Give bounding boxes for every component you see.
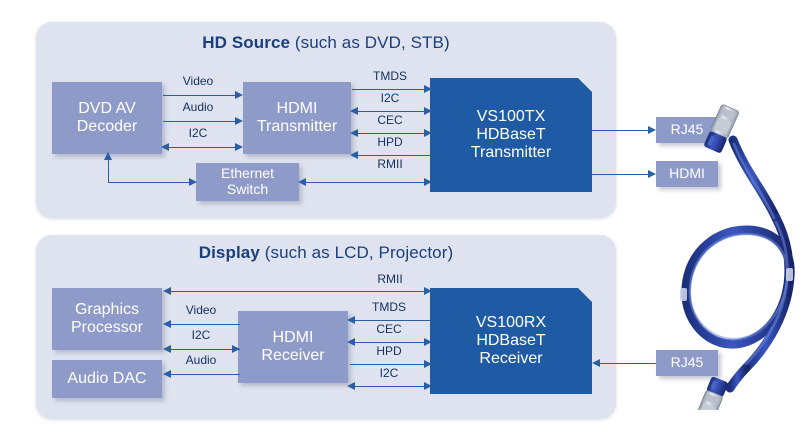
diagram-canvas: HD Source (such as DVD, STB) DVD AV Deco… bbox=[0, 0, 808, 447]
signal-arrow-i2c-rx2-right bbox=[424, 382, 432, 390]
signal-line-video-rx bbox=[166, 324, 240, 325]
signal-label-rmii-tx: RMII bbox=[355, 157, 425, 171]
eth-to-decoder-arrow-right bbox=[189, 178, 197, 186]
signal-label-hpd-rx: HPD bbox=[352, 344, 426, 358]
signal-line-audio-tx bbox=[163, 121, 237, 122]
signal-label-audio-rx: Audio bbox=[168, 353, 234, 367]
signal-line-rmii-tx bbox=[300, 182, 432, 183]
signal-label-tmds-tx: TMDS bbox=[355, 69, 425, 83]
box-graphics-processor[interactable]: Graphics Processor bbox=[52, 288, 162, 350]
signal-label-rmii-rx: RMII bbox=[355, 272, 425, 286]
signal-arrow-audio-tx-right bbox=[235, 117, 243, 125]
eth-to-decoder-vline bbox=[108, 160, 109, 183]
signal-line-tmds-rx bbox=[350, 320, 430, 321]
signal-arrow-i2c-rx2-left bbox=[347, 382, 355, 390]
signal-label-audio-tx: Audio bbox=[165, 100, 231, 114]
signal-label-cec-rx: CEC bbox=[352, 322, 426, 336]
panel-hd-source-title-strong: HD Source bbox=[202, 33, 290, 52]
signal-arrow-cec-tx-right bbox=[424, 129, 432, 137]
signal-line-video-tx bbox=[163, 95, 237, 96]
panel-display-title-light: (such as LCD, Projector) bbox=[265, 243, 454, 262]
signal-line-cec-rx bbox=[350, 342, 430, 343]
rx-in-rj45-arrow bbox=[592, 359, 600, 367]
panel-display-title-strong: Display bbox=[199, 243, 260, 262]
tx-out-hdmi-arrow bbox=[648, 170, 656, 178]
signal-line-i2c-rx2 bbox=[350, 386, 430, 387]
signal-arrow-video-tx-right bbox=[235, 91, 243, 99]
ethernet-cable-image bbox=[672, 100, 808, 410]
panel-hd-source-title: HD Source (such as DVD, STB) bbox=[36, 33, 616, 53]
signal-arrow-rmii-tx-right bbox=[424, 178, 432, 186]
signal-arrow-i2c-rx-left bbox=[163, 345, 171, 353]
signal-label-tmds-rx: TMDS bbox=[352, 300, 426, 314]
box-vs100rx[interactable]: VS100RX HDBaseT Receiver bbox=[430, 288, 592, 394]
rx-in-rj45-line bbox=[596, 363, 656, 364]
signal-arrow-i2c-rx-right bbox=[232, 345, 240, 353]
box-vs100tx[interactable]: VS100TX HDBaseT Transmitter bbox=[430, 78, 592, 192]
signal-line-i2c-rx bbox=[166, 349, 240, 350]
box-vs100tx-label: VS100TX HDBaseT Transmitter bbox=[471, 108, 551, 162]
signal-arrow-rmii-rx-right bbox=[424, 287, 432, 295]
box-dvd-av-decoder[interactable]: DVD AV Decoder bbox=[52, 82, 162, 154]
box-dvd-av-decoder-label: DVD AV Decoder bbox=[77, 100, 137, 136]
eth-to-decoder-hline bbox=[108, 182, 192, 183]
signal-arrow-rmii-rx-left bbox=[163, 287, 171, 295]
tx-out-hdmi-line bbox=[592, 174, 654, 175]
signal-line-cec-tx bbox=[352, 133, 430, 134]
signal-label-i2c-rx2: I2C bbox=[352, 366, 426, 380]
box-audio-dac-label: Audio DAC bbox=[67, 370, 146, 388]
box-ethernet-switch[interactable]: Ethernet Switch bbox=[196, 163, 299, 201]
signal-line-i2c-tx2 bbox=[352, 111, 430, 112]
signal-line-hpd-rx bbox=[350, 364, 430, 365]
signal-label-video-tx: Video bbox=[165, 74, 231, 88]
signal-label-i2c-tx: I2C bbox=[165, 126, 231, 140]
signal-arrow-i2c-tx2-right bbox=[424, 107, 432, 115]
signal-line-hpd-tx bbox=[352, 155, 430, 156]
box-hdmi-receiver[interactable]: HDMI Receiver bbox=[238, 311, 348, 383]
box-vs100rx-label: VS100RX HDBaseT Receiver bbox=[476, 314, 546, 368]
box-hdmi-transmitter[interactable]: HDMI Transmitter bbox=[243, 82, 351, 154]
signal-arrow-i2c-tx-left bbox=[161, 143, 169, 151]
signal-arrow-i2c-tx-right bbox=[235, 143, 243, 151]
tx-out-rj45-arrow bbox=[648, 126, 656, 134]
signal-label-i2c-tx2: I2C bbox=[355, 91, 425, 105]
box-hdmi-transmitter-label: HDMI Transmitter bbox=[257, 100, 337, 136]
signal-arrow-rmii-tx-left bbox=[298, 178, 306, 186]
signal-arrow-audio-rx-left bbox=[163, 370, 171, 378]
tx-out-rj45-line bbox=[592, 130, 654, 131]
signal-label-video-rx: Video bbox=[168, 303, 234, 317]
eth-to-decoder-arrow-up bbox=[104, 152, 112, 160]
signal-line-tmds-tx bbox=[352, 89, 430, 90]
box-hdmi-receiver-label: HDMI Receiver bbox=[261, 329, 324, 365]
panel-hd-source-title-light: (such as DVD, STB) bbox=[295, 33, 450, 52]
signal-label-hpd-tx: HPD bbox=[355, 135, 425, 149]
box-graphics-processor-label: Graphics Processor bbox=[71, 301, 143, 337]
box-audio-dac[interactable]: Audio DAC bbox=[52, 360, 162, 398]
panel-display-title: Display (such as LCD, Projector) bbox=[36, 243, 616, 263]
signal-arrow-video-rx-left bbox=[163, 320, 171, 328]
signal-label-cec-tx: CEC bbox=[355, 113, 425, 127]
signal-line-rmii-rx bbox=[166, 291, 430, 292]
signal-label-i2c-rx: I2C bbox=[168, 328, 234, 342]
box-ethernet-switch-label: Ethernet Switch bbox=[221, 166, 274, 197]
signal-line-i2c-tx bbox=[163, 147, 237, 148]
signal-arrow-tmds-tx-right bbox=[424, 85, 432, 93]
signal-line-audio-rx bbox=[166, 374, 240, 375]
